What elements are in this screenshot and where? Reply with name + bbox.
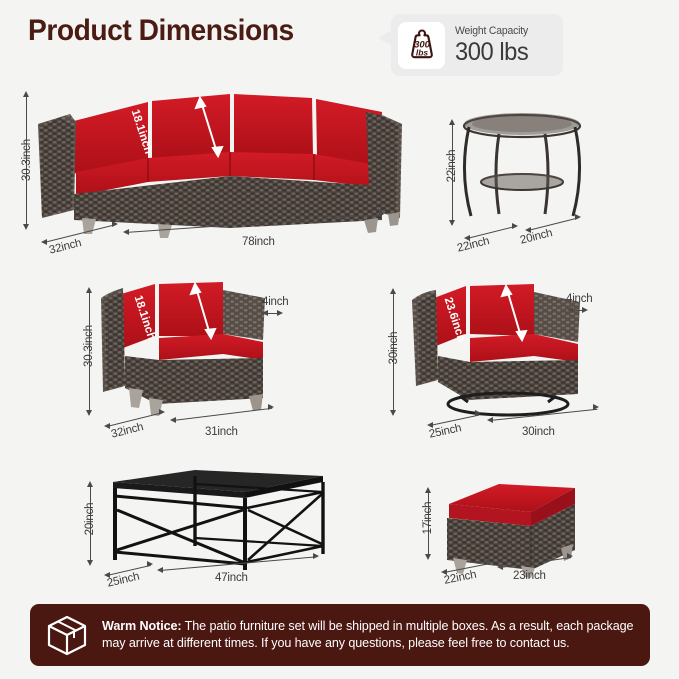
coffee-table-depth-arrow-right bbox=[147, 561, 153, 567]
badge-tail bbox=[378, 30, 392, 46]
armchair-height-arrow-top bbox=[86, 287, 92, 293]
side-table-width-arrow-right bbox=[575, 214, 581, 220]
coffee-table-width-dim: 47inch bbox=[215, 572, 248, 584]
swivel-chair-width-dim: 30inch bbox=[522, 426, 555, 438]
side-table-depth-line bbox=[467, 226, 516, 239]
product-coffee-table bbox=[95, 466, 330, 576]
swivel-chair-height-arrow-top bbox=[390, 288, 396, 294]
page-title: Product Dimensions bbox=[28, 14, 294, 48]
weight-capacity-value: 300 lbs bbox=[455, 40, 528, 65]
coffee-table-height-arrow-top bbox=[87, 481, 93, 487]
ottoman-height-dim: 17inch bbox=[422, 492, 434, 544]
ottoman-width-dim: 23inch bbox=[513, 570, 546, 582]
armchair-height-dim: 30.3inch bbox=[83, 312, 95, 380]
sofa-height-arrow-top bbox=[23, 91, 29, 97]
armchair-arm-dim: 4inch bbox=[262, 296, 289, 308]
weight-icon-line2: lbs bbox=[415, 48, 428, 58]
package-box-icon bbox=[44, 612, 90, 658]
sofa-height-arrow-bottom bbox=[23, 224, 29, 230]
armchair-arm-arrow-right bbox=[277, 310, 283, 316]
swivel-chair-width-arrow-right bbox=[593, 404, 599, 410]
sofa-height-dim: 30.3inch bbox=[21, 125, 33, 195]
sofa-depth-arrow-left bbox=[41, 239, 47, 245]
notice-body: The patio furniture set will be shipped … bbox=[102, 619, 633, 650]
sofa-width-dim: 78inch bbox=[242, 236, 275, 248]
side-table-height-arrow-bottom bbox=[449, 220, 455, 226]
side-table-height-dim: 22inch bbox=[446, 136, 458, 196]
armchair-depth-arrow-right bbox=[159, 409, 165, 415]
swivel-chair-arm-arrow-right bbox=[582, 307, 588, 313]
coffee-table-height-dim: 20inch bbox=[84, 491, 96, 547]
warm-notice-banner: Warm Notice: The patio furniture set wil… bbox=[30, 604, 650, 666]
side-table-depth-dim: 22inch bbox=[456, 235, 491, 255]
sofa-width-arrow-right bbox=[379, 210, 385, 216]
swivel-chair-height-dim: 30inch bbox=[388, 317, 400, 379]
swivel-chair-depth-arrow-right bbox=[475, 410, 481, 416]
sofa-depth-arrow-right bbox=[112, 221, 118, 227]
swivel-chair-arm-dim: 4inch bbox=[566, 293, 593, 305]
product-side-table bbox=[455, 112, 590, 222]
weight-icon-container: 300 lbs bbox=[398, 22, 445, 69]
ottoman-depth-arrow-right bbox=[486, 559, 492, 565]
coffee-table-height-arrow-bottom bbox=[87, 560, 93, 566]
swivel-chair-arm-arrow-left bbox=[567, 307, 573, 313]
product-dimensions-infographic: Product Dimensions 300 lbs Weight Capaci… bbox=[0, 0, 679, 679]
weight-capacity-badge: 300 lbs Weight Capacity 300 lbs bbox=[391, 14, 563, 76]
armchair-width-arrow-right bbox=[268, 404, 274, 410]
ottoman-width-arrow-left bbox=[497, 564, 503, 570]
armchair-height-arrow-bottom bbox=[86, 410, 92, 416]
armchair-width-arrow-left bbox=[170, 417, 176, 423]
notice-title: Warm Notice: bbox=[102, 619, 182, 633]
ottoman-height-arrow-bottom bbox=[425, 554, 431, 560]
armchair-depth-arrow-left bbox=[104, 423, 110, 429]
product-ottoman bbox=[435, 478, 595, 578]
coffee-table-width-arrow-left bbox=[157, 567, 163, 573]
side-table-depth-arrow-right bbox=[512, 223, 518, 229]
ottoman-width-arrow-right bbox=[567, 553, 573, 559]
weight-capacity-label: Weight Capacity bbox=[455, 26, 528, 37]
sofa-width-arrow-left bbox=[123, 229, 129, 235]
armchair-arm-arrow-left bbox=[262, 310, 268, 316]
weight-300lbs-icon: 300 lbs bbox=[402, 25, 442, 65]
coffee-table-width-arrow-right bbox=[313, 553, 319, 559]
side-table-height-arrow-top bbox=[449, 119, 455, 125]
swivel-chair-depth-arrow-left bbox=[427, 422, 433, 428]
armchair-width-dim: 31inch bbox=[205, 426, 238, 438]
swivel-chair-height-arrow-bottom bbox=[390, 410, 396, 416]
product-sofa: 18.1inch bbox=[30, 78, 405, 238]
swivel-chair-width-arrow-left bbox=[487, 417, 493, 423]
